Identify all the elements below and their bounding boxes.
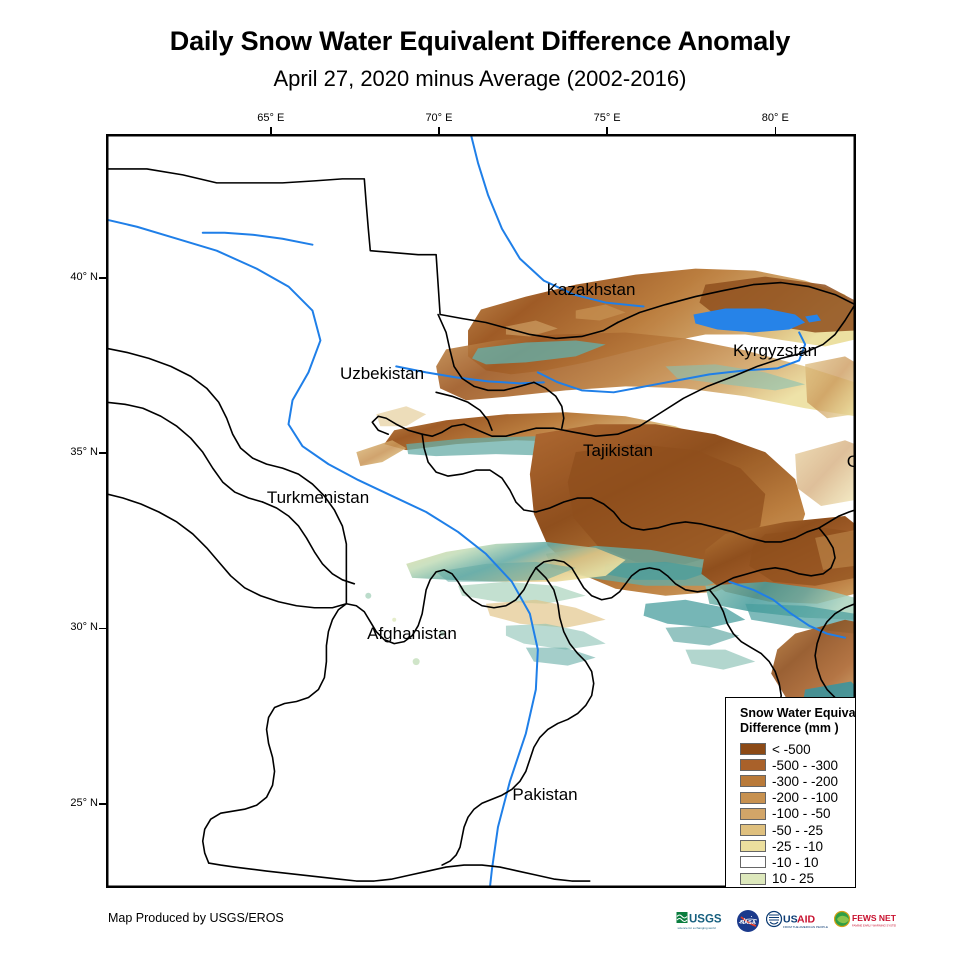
svg-text:FEWS NET: FEWS NET xyxy=(852,913,896,923)
svg-text:science for a changing world: science for a changing world xyxy=(678,926,716,930)
lon-tick-mark xyxy=(775,127,777,134)
lat-tick-label: 40° N xyxy=(38,271,98,283)
legend-swatch xyxy=(740,743,766,755)
lon-tick-mark xyxy=(606,127,608,134)
fewsnet-logo-icon: FEWS NET FAMINE EARLY WARNING SYSTEMS NE… xyxy=(834,909,896,933)
legend-row: -300 - -200 xyxy=(740,773,856,789)
usgs-logo-icon: USGS science for a changing world xyxy=(676,909,730,933)
map-page: Daily Snow Water Equivalent Difference A… xyxy=(0,0,960,960)
legend-row: -50 - -25 xyxy=(740,822,856,838)
legend-row: -200 - -100 xyxy=(740,790,856,806)
svg-text:FROM THE AMERICAN PEOPLE: FROM THE AMERICAN PEOPLE xyxy=(783,925,828,929)
lat-tick-label: 30° N xyxy=(38,621,98,633)
legend-label: -25 - -10 xyxy=(772,840,823,853)
legend-row: -100 - -50 xyxy=(740,806,856,822)
lon-tick-mark xyxy=(438,127,440,134)
svg-text:US: US xyxy=(783,914,798,926)
lat-tick-mark xyxy=(99,277,106,279)
legend-swatch xyxy=(740,808,766,820)
legend-title: Snow Water Equivalent Difference (mm ) xyxy=(740,706,856,736)
page-subtitle: April 27, 2020 minus Average (2002-2016) xyxy=(0,66,960,92)
lon-tick-label: 80° E xyxy=(745,112,805,124)
lat-tick-mark xyxy=(99,628,106,630)
fewsnet-logo: FEWS NET FAMINE EARLY WARNING SYSTEMS NE… xyxy=(834,908,896,934)
legend-label: -100 - -50 xyxy=(772,807,831,820)
agency-logos: USGS science for a changing world NASA xyxy=(676,906,896,936)
legend-label: 10 - 25 xyxy=(772,872,814,885)
nasa-logo-icon: NASA xyxy=(736,909,760,933)
legend-swatch xyxy=(740,856,766,868)
lon-tick-mark xyxy=(270,127,272,134)
legend-label: -200 - -100 xyxy=(772,791,838,804)
legend-swatch xyxy=(740,775,766,787)
legend-title-line2: Difference (mm ) xyxy=(740,721,856,736)
map-legend: Snow Water Equivalent Difference (mm ) <… xyxy=(725,697,856,888)
legend-label: -300 - -200 xyxy=(772,775,838,788)
legend-swatch xyxy=(740,873,766,885)
svg-text:AID: AID xyxy=(797,914,816,926)
nasa-logo: NASA xyxy=(736,908,760,934)
legend-label: < -500 xyxy=(772,743,811,756)
legend-row: -500 - -300 xyxy=(740,757,856,773)
legend-title-line1: Snow Water Equivalent xyxy=(740,706,856,721)
legend-swatch xyxy=(740,792,766,804)
legend-label: -500 - -300 xyxy=(772,759,838,772)
usaid-logo-icon: US AID FROM THE AMERICAN PEOPLE xyxy=(766,909,828,933)
usgs-logo: USGS science for a changing world xyxy=(676,908,730,934)
lon-tick-label: 70° E xyxy=(409,112,469,124)
legend-row: -25 - -10 xyxy=(740,838,856,854)
svg-text:FAMINE EARLY WARNING SYSTEMS N: FAMINE EARLY WARNING SYSTEMS NETWORK xyxy=(852,924,896,928)
svg-text:USGS: USGS xyxy=(689,914,722,926)
legend-swatch xyxy=(740,824,766,836)
lat-tick-mark xyxy=(99,803,106,805)
map-credit: Map Produced by USGS/EROS xyxy=(108,911,284,925)
lat-tick-mark xyxy=(99,452,106,454)
legend-swatch xyxy=(740,840,766,852)
legend-class-list: < -500-500 - -300-300 - -200-200 - -100-… xyxy=(740,741,856,888)
lon-tick-label: 65° E xyxy=(241,112,301,124)
legend-row: < -500 xyxy=(740,741,856,757)
map-canvas[interactable]: KazakhstanUzbekistanKyrgyzstanTurkmenist… xyxy=(106,134,856,888)
page-title: Daily Snow Water Equivalent Difference A… xyxy=(0,26,960,57)
lat-tick-label: 35° N xyxy=(38,446,98,458)
lon-tick-label: 75° E xyxy=(577,112,637,124)
usaid-logo: US AID FROM THE AMERICAN PEOPLE xyxy=(766,908,828,934)
legend-row: 10 - 25 xyxy=(740,871,856,887)
lat-tick-label: 25° N xyxy=(38,797,98,809)
legend-row: -10 - 10 xyxy=(740,854,856,870)
legend-row: 25 - 50 xyxy=(740,887,856,888)
legend-label: -10 - 10 xyxy=(772,856,819,869)
svg-text:NASA: NASA xyxy=(740,920,756,926)
legend-swatch xyxy=(740,759,766,771)
legend-label: -50 - -25 xyxy=(772,824,823,837)
